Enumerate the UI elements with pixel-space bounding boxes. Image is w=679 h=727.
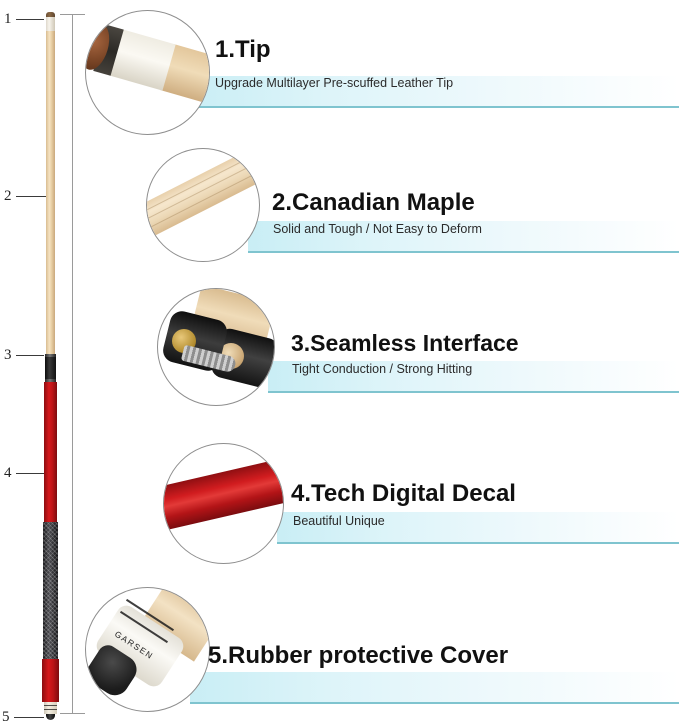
tip-artwork <box>85 20 210 103</box>
cue-segment-joint-collar <box>45 357 56 379</box>
cue-segment-bumper <box>44 702 57 714</box>
rubber-cover-photo: GARSEN <box>85 587 210 712</box>
cue-tip-photo <box>85 10 210 135</box>
marker-label-2: 2 <box>4 189 12 204</box>
cue-segment-red-butt <box>42 659 59 702</box>
feature-subtitle-3: Tight Conduction / Strong Hitting <box>292 362 472 376</box>
maple-shaft-photo <box>146 148 260 262</box>
red-decal-photo <box>163 443 284 564</box>
marker-label-5: 5 <box>2 710 10 725</box>
cue-segment-grip-wrap <box>43 522 58 659</box>
maple-grain-2 <box>146 154 260 228</box>
decal-artwork <box>163 454 284 534</box>
dimension-line <box>72 14 73 714</box>
maple-artwork <box>146 148 260 243</box>
feature-heading-3: 3.Seamless Interface <box>291 330 519 357</box>
feature-heading-2: 2.Canadian Maple <box>272 189 475 217</box>
leader-line-1 <box>16 19 44 20</box>
leader-line-4 <box>16 473 44 474</box>
feature-subtitle-2: Solid and Tough / Not Easy to Deform <box>273 222 482 236</box>
cue-segment-red-forearm <box>44 382 57 522</box>
feature-heading-4: 4.Tech Digital Decal <box>291 480 516 508</box>
leader-line-3 <box>16 355 44 356</box>
maple-grain-3 <box>146 162 260 236</box>
joint-interface-photo <box>157 288 275 406</box>
pool-cue-illustration <box>42 12 59 718</box>
feature-subtitle-1: Upgrade Multilayer Pre-scuffed Leather T… <box>215 76 453 90</box>
marker-label-3: 3 <box>4 348 12 363</box>
cue-measurement-column: 1 2 3 4 5 147.6 cm / 58.11in <box>0 0 100 727</box>
feature-subtitle-4: Beautiful Unique <box>293 514 385 528</box>
cue-segment-end-cap <box>46 714 55 720</box>
cue-segment-ferrule <box>46 17 55 31</box>
feature-heading-1: 1.Tip <box>215 36 271 64</box>
feature-band-5 <box>190 672 679 704</box>
marker-label-4: 4 <box>4 466 12 481</box>
leader-line-5 <box>14 717 44 718</box>
bumper-ring-1 <box>44 705 57 706</box>
marker-label-1: 1 <box>4 12 12 27</box>
cue-segment-shaft <box>46 31 55 354</box>
bumper-ring-2 <box>44 709 57 710</box>
dimension-cap-bottom <box>60 713 85 714</box>
feature-heading-5: 5.Rubber protective Cover <box>208 642 508 670</box>
